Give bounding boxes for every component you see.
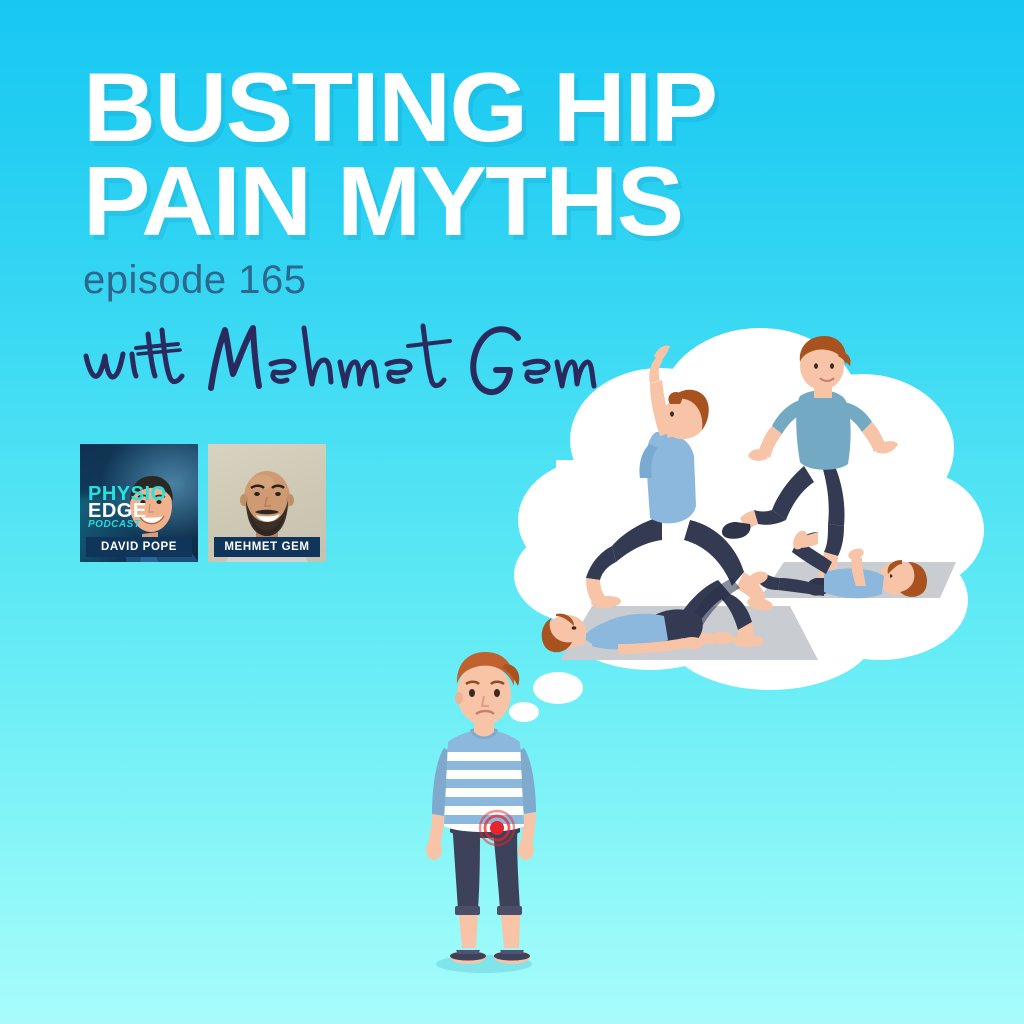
right-eyebrow	[491, 682, 504, 684]
right-eye	[494, 689, 500, 697]
headshot-host: PHYSIO EDGE PODCAST DAVID POPE	[80, 444, 198, 562]
exercise-mats	[560, 562, 956, 660]
right-trouser-leg	[492, 820, 520, 910]
page-title-line-2: PAIN MYTHS	[83, 156, 742, 246]
left-sleeve	[432, 748, 456, 816]
left-sandal	[450, 950, 486, 964]
exercise-mat-right	[760, 562, 956, 598]
logo-line-edge: EDGE	[88, 503, 167, 520]
headshot-row: PHYSIO EDGE PODCAST DAVID POPE	[80, 444, 326, 562]
thought-bubble-small-2	[533, 672, 583, 704]
standing-man	[426, 652, 536, 973]
lunge-figure	[586, 345, 774, 612]
head	[457, 663, 511, 725]
episode-number-label: episode 165	[83, 260, 723, 300]
hair-fringe	[502, 664, 519, 686]
mouth	[476, 711, 494, 714]
right-sleeve	[512, 748, 536, 814]
ear	[455, 692, 463, 704]
right-sandal	[494, 950, 530, 964]
right-shin	[501, 915, 520, 948]
left-shin	[459, 915, 478, 948]
collar	[470, 727, 498, 739]
headshot-guest: MEHMET GEM	[208, 444, 326, 562]
headshot-guest-name-label: MEHMET GEM	[214, 537, 320, 557]
supine-figure	[747, 528, 927, 598]
tshirt	[444, 730, 524, 832]
left-forearm	[428, 814, 444, 846]
logo-line-podcast: PODCAST	[88, 521, 167, 530]
hip-pain-indicator	[480, 811, 514, 845]
title-block: BUSTING HIP PAIN MYTHS episode 165	[83, 62, 723, 300]
nose	[482, 696, 489, 706]
podcast-cover-artwork: BUSTING HIP PAIN MYTHS episode 165 with …	[0, 0, 1024, 1024]
right-hand	[518, 840, 534, 860]
thought-bubble-small-1	[509, 702, 539, 722]
hair	[457, 652, 514, 686]
neck	[474, 714, 494, 737]
right-forearm	[520, 812, 536, 846]
figure-shadow	[436, 955, 532, 973]
left-hand	[426, 840, 442, 860]
physio-edge-logo: PHYSIO EDGE PODCAST	[88, 486, 167, 530]
runner-figure	[722, 336, 898, 596]
left-eyebrow	[466, 682, 479, 684]
bridge-figure	[542, 578, 764, 654]
right-cuff	[497, 906, 522, 915]
left-cuff	[455, 906, 480, 915]
page-title-line-1: BUSTING HIP	[83, 62, 742, 152]
exercise-mat-left	[560, 606, 818, 660]
headshot-host-name-label: DAVID POPE	[86, 537, 192, 557]
guest-credit-script: with Mehmet Gem	[78, 312, 598, 408]
hip-block	[450, 806, 520, 838]
left-trouser-leg	[452, 820, 480, 910]
tshirt-stripes	[440, 752, 530, 833]
left-eye	[469, 689, 475, 697]
